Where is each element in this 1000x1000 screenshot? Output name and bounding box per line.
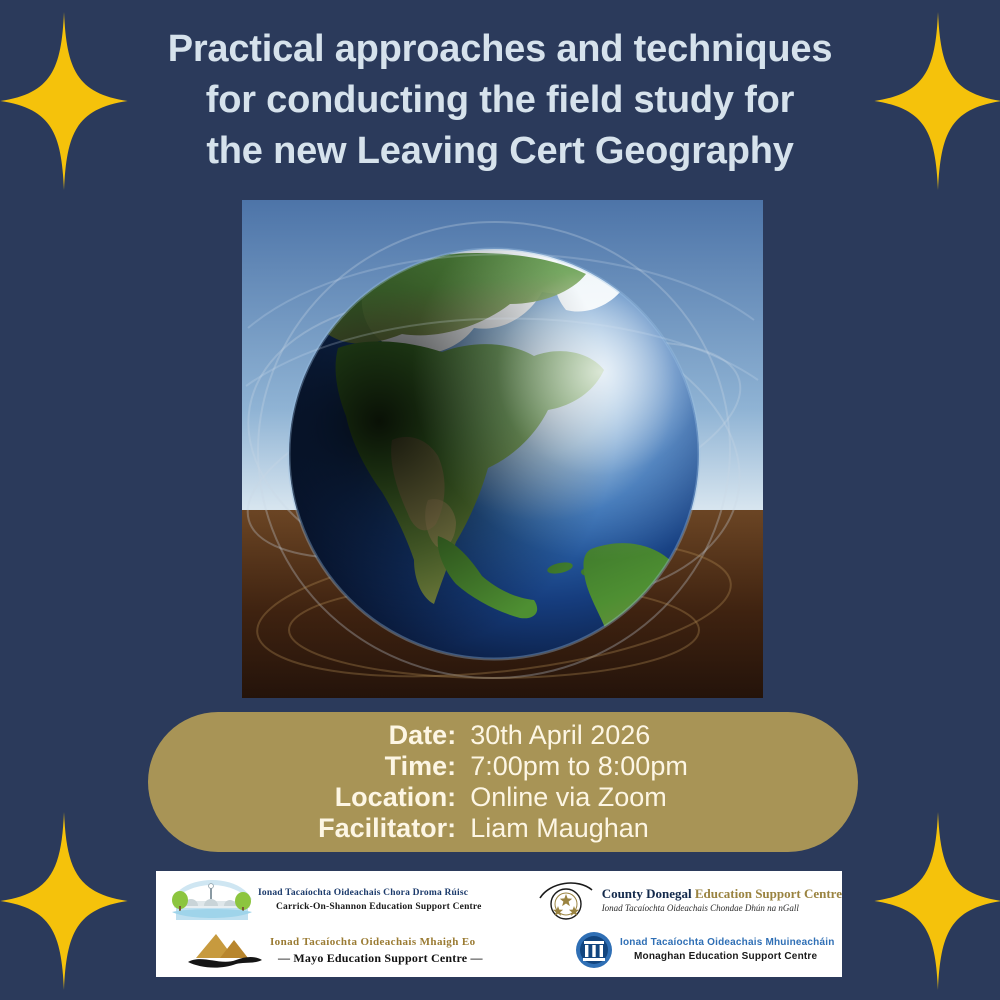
event-details-table: Date: 30th April 2026 Time: 7:00pm to 8:…	[318, 720, 688, 844]
logo-monaghan-line-irish: Ionad Tacaíochta Oideachais Mhuineacháin	[620, 936, 835, 950]
logo-monaghan-text: Ionad Tacaíochta Oideachais Mhuineacháin…	[614, 936, 835, 964]
bridge-icon	[170, 878, 254, 922]
detail-label-location: Location:	[318, 782, 470, 813]
logo-donegal-line-english: County Donegal Education Support Centre	[602, 886, 842, 902]
detail-row-facilitator: Facilitator: Liam Maughan	[318, 813, 688, 844]
logo-donegal-esc: Education Support Centre	[695, 886, 842, 901]
detail-label-facilitator: Facilitator:	[318, 813, 470, 844]
mountain-wave-icon	[186, 930, 264, 970]
logo-monaghan-line-english: Monaghan Education Support Centre	[620, 950, 835, 964]
logo-row-bottom: Ionad Tacaíochta Oideachais Mhaigh Eo — …	[156, 925, 842, 975]
detail-row-time: Time: 7:00pm to 8:00pm	[318, 751, 688, 782]
detail-label-date: Date:	[318, 720, 470, 751]
eye-star-icon	[538, 878, 596, 922]
logo-mayo-line-english: — Mayo Education Support Centre —	[270, 950, 483, 966]
detail-value-facilitator: Liam Maughan	[470, 813, 688, 844]
sparkle-star-bottom-left	[0, 812, 130, 990]
globe-earth-north-america	[242, 200, 763, 698]
detail-value-date: 30th April 2026	[470, 720, 688, 751]
detail-value-location: Online via Zoom	[470, 782, 688, 813]
detail-row-location: Location: Online via Zoom	[318, 782, 688, 813]
partner-logo-bar: Ionad Tacaíochta Oideachais Chora Droma …	[156, 871, 842, 977]
sparkle-star-bottom-right	[872, 812, 1000, 990]
title-line-3: the new Leaving Cert Geography	[0, 126, 1000, 177]
pillar-building-icon	[574, 930, 614, 970]
page-title: Practical approaches and techniques for …	[0, 24, 1000, 177]
event-details-panel: Date: 30th April 2026 Time: 7:00pm to 8:…	[148, 712, 858, 852]
logo-donegal-county: County Donegal	[602, 886, 695, 901]
title-line-2: for conducting the field study for	[0, 75, 1000, 126]
logo-carrick-line-english: Carrick-On-Shannon Education Support Cen…	[258, 900, 482, 914]
logo-monaghan: Ionad Tacaíochta Oideachais Mhuineacháin…	[556, 930, 842, 970]
logo-county-donegal: County Donegal Education Support Centre …	[530, 878, 842, 922]
logo-mayo-line-irish: Ionad Tacaíochta Oideachais Mhaigh Eo	[270, 935, 483, 950]
detail-label-time: Time:	[318, 751, 470, 782]
event-poster: Practical approaches and techniques for …	[0, 0, 1000, 1000]
logo-mayo: Ionad Tacaíochta Oideachais Mhaigh Eo — …	[156, 930, 556, 970]
logo-carrick-text: Ionad Tacaíochta Oideachais Chora Droma …	[254, 886, 482, 914]
detail-value-time: 7:00pm to 8:00pm	[470, 751, 688, 782]
logo-row-top: Ionad Tacaíochta Oideachais Chora Droma …	[156, 875, 842, 925]
logo-carrick-on-shannon: Ionad Tacaíochta Oideachais Chora Droma …	[156, 878, 530, 922]
logo-mayo-text: Ionad Tacaíochta Oideachais Mhaigh Eo — …	[264, 935, 483, 966]
logo-donegal-line-irish: Ionad Tacaíochta Oideachais Chondae Dhún…	[602, 902, 842, 915]
logo-donegal-text: County Donegal Education Support Centre …	[596, 886, 842, 915]
title-line-1: Practical approaches and techniques	[0, 24, 1000, 75]
detail-row-date: Date: 30th April 2026	[318, 720, 688, 751]
logo-carrick-line-irish: Ionad Tacaíochta Oideachais Chora Droma …	[258, 886, 482, 900]
